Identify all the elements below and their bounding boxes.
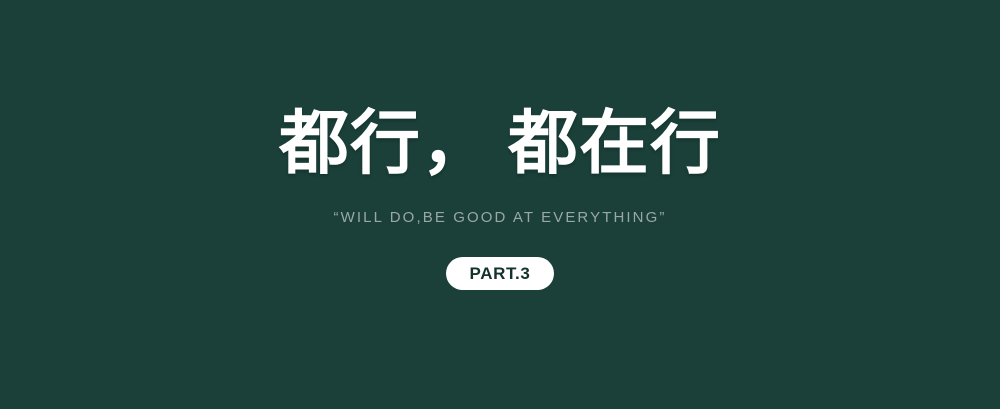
page-title: 都行，都在行	[279, 104, 721, 182]
badge-row: PART.3	[446, 226, 554, 290]
part-badge[interactable]: PART.3	[446, 257, 554, 290]
banner-content: 都行，都在行 “WILL DO,BE GOOD AT EVERYTHING” P…	[0, 0, 1000, 409]
page-title-part-one: 都行，	[279, 104, 492, 182]
section-title-banner: 都行，都在行 “WILL DO,BE GOOD AT EVERYTHING” P…	[0, 0, 1000, 409]
page-subtitle: “WILL DO,BE GOOD AT EVERYTHING”	[334, 182, 667, 226]
page-title-part-two: 都在行	[508, 104, 721, 182]
